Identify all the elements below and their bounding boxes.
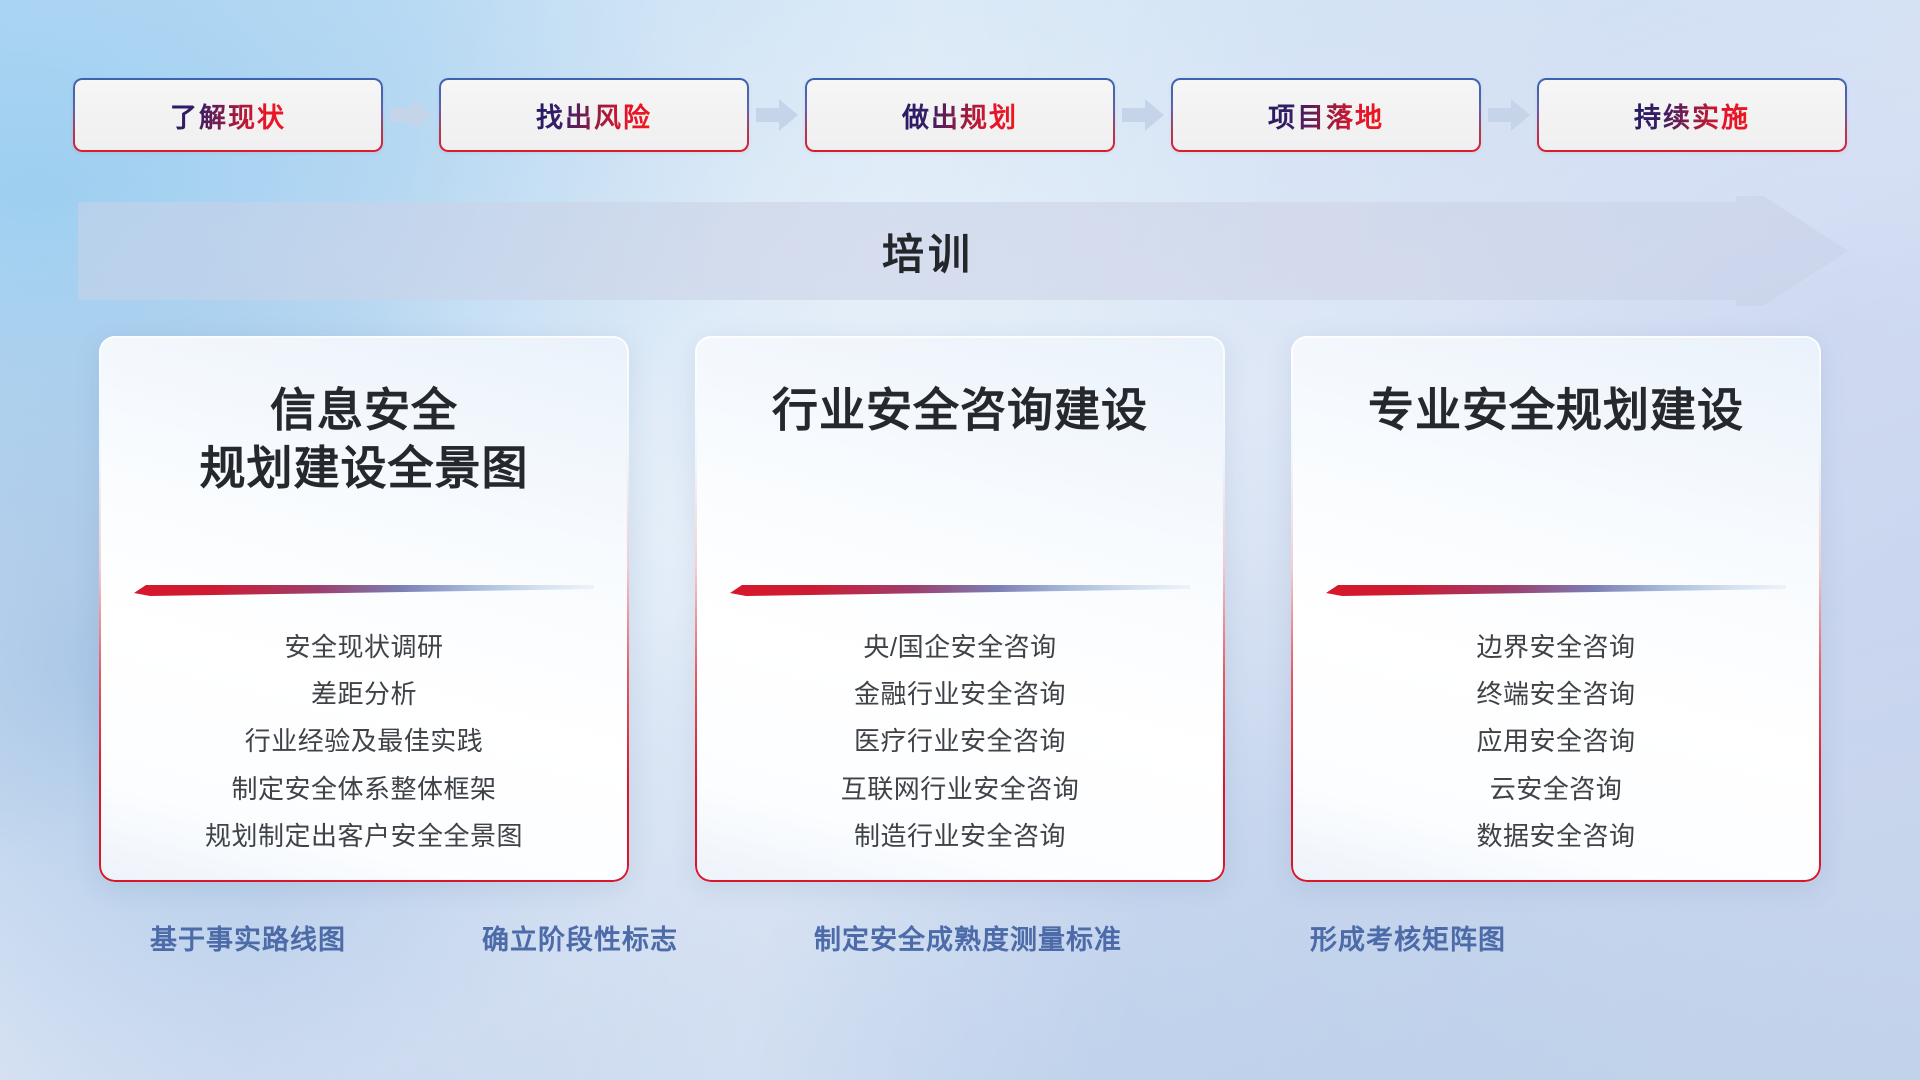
footer-caption-4: 形成考核矩阵图 xyxy=(1310,918,1506,957)
step-box-1[interactable]: 了解现状 xyxy=(73,78,383,152)
arrow-right-icon xyxy=(1488,97,1530,133)
footer-caption-1: 基于事实路线图 xyxy=(150,918,346,957)
list-item: 数据安全咨询 xyxy=(1476,821,1635,852)
step-connector-arrow xyxy=(749,78,805,152)
step-connector-arrow xyxy=(383,78,439,152)
gradient-divider-icon xyxy=(134,584,594,598)
step-connector-arrow xyxy=(1115,78,1171,152)
card-title: 行业安全咨询建设 xyxy=(772,382,1148,440)
step-box-4[interactable]: 项目落地 xyxy=(1171,78,1481,152)
step-label: 项目落地 xyxy=(1268,96,1384,135)
step-box-3[interactable]: 做出规划 xyxy=(805,78,1115,152)
slide-canvas: 了解现状找出风险做出规划项目落地持续实施 培训 信息安全 规划建设全景图安全现状… xyxy=(0,0,1920,1080)
training-banner: 培训 xyxy=(78,196,1848,306)
list-item: 安全现状调研 xyxy=(284,632,443,663)
arrow-right-icon xyxy=(390,97,432,133)
list-item: 行业经验及最佳实践 xyxy=(245,726,484,757)
card-divider xyxy=(1321,584,1791,598)
card-item-list: 安全现状调研差距分析行业经验及最佳实践制定安全体系整体框架规划制定出客户安全全景… xyxy=(129,632,599,852)
list-item: 医疗行业安全咨询 xyxy=(854,726,1066,757)
card-item-list: 边界安全咨询终端安全咨询应用安全咨询云安全咨询数据安全咨询 xyxy=(1321,632,1791,852)
card-item-list: 央/国企安全咨询金融行业安全咨询医疗行业安全咨询互联网行业安全咨询制造行业安全咨… xyxy=(725,632,1195,852)
list-item: 边界安全咨询 xyxy=(1476,632,1635,663)
footer-captions: 基于事实路线图确立阶段性标志制定安全成熟度测量标准形成考核矩阵图 xyxy=(0,918,1920,968)
gradient-divider-icon xyxy=(730,584,1190,598)
service-card-3[interactable]: 专业安全规划建设边界安全咨询终端安全咨询应用安全咨询云安全咨询数据安全咨询 xyxy=(1291,336,1821,882)
list-item: 应用安全咨询 xyxy=(1476,726,1635,757)
footer-caption-3: 制定安全成熟度测量标准 xyxy=(814,918,1122,957)
card-divider xyxy=(129,584,599,598)
list-item: 规划制定出客户安全全景图 xyxy=(205,821,523,852)
card-title: 信息安全 规划建设全景图 xyxy=(200,382,529,498)
card-title: 专业安全规划建设 xyxy=(1368,382,1744,440)
step-label: 持续实施 xyxy=(1634,96,1750,135)
list-item: 央/国企安全咨询 xyxy=(863,632,1056,663)
step-label: 做出规划 xyxy=(902,96,1018,135)
step-connector-arrow xyxy=(1481,78,1537,152)
list-item: 终端安全咨询 xyxy=(1476,679,1635,710)
list-item: 云安全咨询 xyxy=(1490,774,1623,805)
service-card-2[interactable]: 行业安全咨询建设央/国企安全咨询金融行业安全咨询医疗行业安全咨询互联网行业安全咨… xyxy=(695,336,1225,882)
step-label: 找出风险 xyxy=(536,96,652,135)
service-card-1[interactable]: 信息安全 规划建设全景图安全现状调研差距分析行业经验及最佳实践制定安全体系整体框… xyxy=(99,336,629,882)
footer-caption-2: 确立阶段性标志 xyxy=(482,918,678,957)
banner-label: 培训 xyxy=(78,196,1778,306)
cards-row: 信息安全 规划建设全景图安全现状调研差距分析行业经验及最佳实践制定安全体系整体框… xyxy=(0,336,1920,882)
list-item: 制造行业安全咨询 xyxy=(854,821,1066,852)
list-item: 互联网行业安全咨询 xyxy=(841,774,1080,805)
list-item: 金融行业安全咨询 xyxy=(854,679,1066,710)
list-item: 差距分析 xyxy=(311,679,417,710)
arrow-right-icon xyxy=(1122,97,1164,133)
gradient-divider-icon xyxy=(1326,584,1786,598)
arrow-right-icon xyxy=(756,97,798,133)
step-box-5[interactable]: 持续实施 xyxy=(1537,78,1847,152)
step-label: 了解现状 xyxy=(170,96,286,135)
process-step-row: 了解现状找出风险做出规划项目落地持续实施 xyxy=(0,78,1920,152)
card-divider xyxy=(725,584,1195,598)
list-item: 制定安全体系整体框架 xyxy=(231,774,496,805)
step-box-2[interactable]: 找出风险 xyxy=(439,78,749,152)
